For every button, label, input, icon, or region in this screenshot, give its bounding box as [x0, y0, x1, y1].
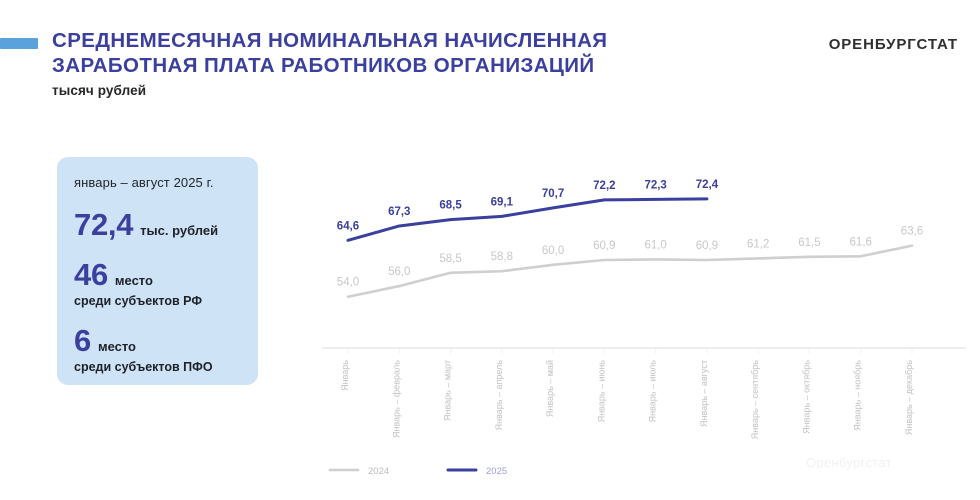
x-tick-label: Январь – ноябрь [853, 360, 863, 431]
data-label-2025: 69,1 [491, 196, 514, 208]
line-chart: 54,056,058,558,860,060,961,060,961,261,5… [300, 150, 980, 500]
data-label-2024: 56,0 [388, 266, 410, 278]
legend-label-2025: 2025 [486, 466, 507, 477]
title-line-1: СРЕДНЕМЕСЯЧНАЯ НОМИНАЛЬНАЯ НАЧИСЛЕННАЯ [52, 28, 712, 53]
data-label-2025: 68,5 [439, 200, 462, 212]
data-label-2024: 60,9 [696, 240, 718, 252]
x-tick-label: Январь – апрель [494, 360, 504, 431]
series-line-2024 [348, 246, 912, 297]
data-label-2024: 61,5 [798, 237, 820, 249]
page-title: СРЕДНЕМЕСЯЧНАЯ НОМИНАЛЬНАЯ НАЧИСЛЕННАЯ З… [52, 28, 712, 98]
data-label-2025: 72,3 [644, 179, 666, 191]
card-period-label: январь – август 2025 г. [74, 175, 241, 190]
x-tick-label: Январь – октябрь [801, 360, 811, 434]
accent-bar [0, 38, 38, 49]
x-tick-label: Январь – май [545, 360, 555, 417]
data-label-2024: 61,0 [644, 239, 666, 251]
data-label-2025: 64,6 [337, 220, 359, 232]
data-label-2024: 60,9 [593, 240, 615, 252]
data-label-2024: 60,0 [542, 245, 564, 257]
stat-rank-rf-note: среди субъектов РФ [74, 294, 241, 308]
chart-canvas: 54,056,058,558,860,060,961,060,961,261,5… [300, 150, 980, 500]
stat-rank-pfo: 6 место среди субъектов ПФО [74, 323, 241, 374]
brand-logo-text: ОРЕНБУРГСТАТ [829, 36, 958, 53]
data-label-2024: 58,5 [439, 253, 461, 265]
stat-rank-pfo-value: 6 [74, 323, 91, 359]
stat-salary-value: 72,4 [74, 207, 133, 243]
stat-rank-rf-value: 46 [74, 257, 108, 293]
x-tick-label: Январь – июль [648, 360, 658, 423]
stat-rank-pfo-note: среди субъектов ПФО [74, 360, 241, 374]
x-tick-label: Январь – март [443, 360, 453, 421]
data-label-2025: 72,2 [593, 180, 615, 192]
data-label-2024: 58,8 [491, 251, 513, 263]
page-subtitle: тысяч рублей [52, 83, 712, 98]
data-label-2025: 70,7 [542, 188, 564, 200]
title-line-2: ЗАРАБОТНАЯ ПЛАТА РАБОТНИКОВ ОРГАНИЗАЦИЙ [52, 53, 712, 78]
stat-rank-rf: 46 место среди субъектов РФ [74, 257, 241, 308]
stat-rank-pfo-unit: место [98, 339, 136, 354]
data-label-2024: 61,6 [850, 236, 872, 248]
x-tick-label: Январь – июнь [596, 360, 606, 423]
data-label-2024: 54,0 [337, 277, 359, 289]
x-tick-label: Январь [340, 360, 350, 391]
stat-rank-rf-unit: место [115, 273, 153, 288]
stat-salary-unit: тыс. рублей [140, 223, 218, 238]
header: СРЕДНЕМЕСЯЧНАЯ НОМИНАЛЬНАЯ НАЧИСЛЕННАЯ З… [0, 0, 980, 120]
data-label-2024: 61,2 [747, 238, 769, 250]
data-label-2025: 72,4 [696, 179, 719, 191]
x-tick-label: Январь – сентябрь [750, 360, 760, 439]
watermark: Оренбургстат [806, 455, 892, 470]
legend-label-2024: 2024 [368, 466, 389, 477]
data-label-2025: 67,3 [388, 206, 410, 218]
x-tick-label: Январь – август [699, 360, 709, 427]
data-label-2024: 63,6 [901, 226, 923, 238]
x-tick-label: Январь – февраль [391, 360, 401, 438]
x-tick-label: Январь – декабрь [904, 360, 914, 435]
stat-salary: 72,4 тыс. рублей [74, 207, 241, 243]
summary-card: январь – август 2025 г. 72,4 тыс. рублей… [57, 157, 258, 385]
